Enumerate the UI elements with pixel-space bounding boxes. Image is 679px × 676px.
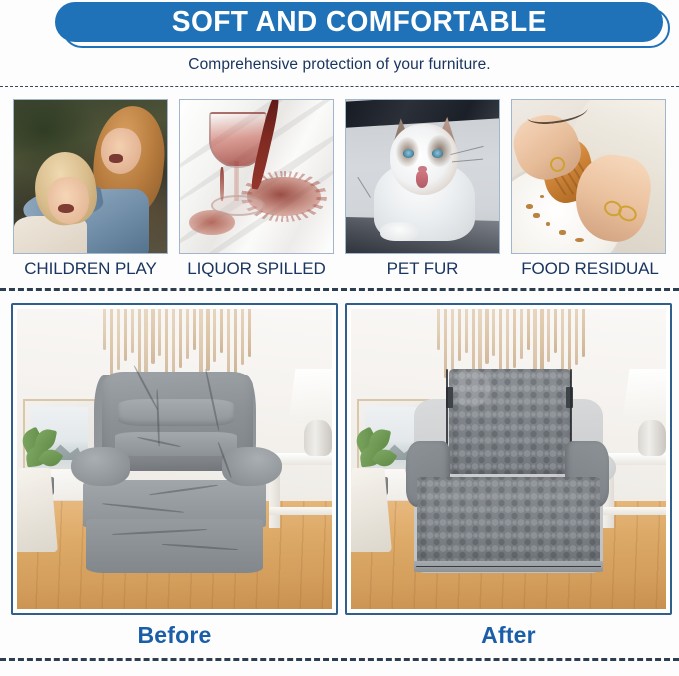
lamp-shade [288, 369, 332, 423]
feature-label-food-residual: FOOD RESIDUAL [511, 259, 669, 279]
bare-grey-recliner-photo [17, 309, 332, 609]
cat-pet-fur-photo [346, 100, 499, 253]
divider-top [0, 86, 679, 87]
header-banner: SOFT AND COMFORTABLE [0, 0, 679, 52]
macrame-strand [492, 309, 495, 356]
food-crumbs-photo [512, 100, 665, 253]
recliner-front-panel [86, 519, 262, 573]
food-crumb [540, 195, 545, 198]
macrame-strand [117, 309, 120, 370]
after-panel [345, 303, 672, 615]
macrame-strand [513, 309, 516, 368]
lamp-base [304, 420, 332, 456]
macrame-strand [213, 309, 216, 362]
feature-photo-strip [13, 99, 666, 254]
macrame-strand [458, 309, 461, 361]
feature-label-liquor-spilled: LIQUOR SPILLED [179, 259, 334, 279]
side-table-shelf [269, 507, 332, 515]
macrame-strand [451, 309, 454, 370]
cat-tongue [416, 171, 428, 188]
macrame-strand [234, 309, 237, 374]
macrame-strand [193, 309, 196, 350]
feature-photo-pet-fur [345, 99, 500, 254]
macrame-strand [172, 309, 175, 376]
macrame-strand [485, 309, 488, 364]
macrame-strand [540, 309, 543, 371]
macrame-strand [186, 309, 189, 359]
macrame-strand [527, 309, 530, 350]
food-crumb [526, 204, 534, 209]
cat-paw [380, 222, 420, 240]
macrame-strand [478, 309, 481, 373]
lamp-base [638, 420, 666, 456]
macrame-strand [444, 309, 447, 378]
slipcover-backrest-panel [449, 369, 572, 474]
divider-middle [0, 288, 679, 291]
feature-photo-food-residual [511, 99, 666, 254]
feature-label-children-play: CHILDREN PLAY [13, 259, 168, 279]
child-front-mouth [58, 204, 73, 213]
macrame-strand [554, 309, 557, 353]
banner-fill: SOFT AND COMFORTABLE [55, 2, 663, 42]
food-crumb [559, 230, 565, 235]
after-caption: After [345, 622, 672, 649]
macrame-strand [506, 309, 509, 376]
side-table-shelf [603, 507, 666, 515]
macrame-strand [151, 309, 154, 364]
covered-recliner-photo [351, 309, 666, 609]
slipcover-piping-bottom [416, 566, 602, 568]
wine-drip [220, 167, 224, 201]
feature-label-pet-fur: PET FUR [345, 259, 500, 279]
macrame-strand [568, 309, 571, 374]
cat-whisker [357, 177, 371, 198]
macrame-strand [248, 309, 251, 357]
spilled-wine-photo [180, 100, 333, 253]
recliner-arm-right [222, 447, 282, 486]
lamp-shade [622, 369, 666, 423]
recliner-headrest [118, 399, 235, 426]
cat-eye-left [403, 149, 414, 158]
macrame-strand [131, 309, 134, 353]
macrame-strand [241, 309, 244, 365]
macrame-strand [220, 309, 223, 353]
macrame-strand [103, 309, 106, 350]
before-caption: Before [11, 622, 338, 649]
macrame-strand [520, 309, 523, 359]
slipcover-seat-panel [417, 477, 600, 567]
before-panel [11, 303, 338, 615]
macrame-strand [144, 309, 147, 373]
macrame-strand [465, 309, 468, 353]
quilt-honeycomb-pattern [449, 369, 572, 474]
macrame-strand [437, 309, 440, 350]
macrame-strand [199, 309, 202, 379]
macrame-strand [547, 309, 550, 362]
macrame-strand [124, 309, 127, 361]
feature-photo-liquor-spilled [179, 99, 334, 254]
recliner-arm-left [71, 447, 131, 486]
feature-labels-row: CHILDREN PLAY LIQUOR SPILLED PET FUR FOO… [0, 259, 679, 283]
child-back-mouth [109, 154, 123, 163]
quilt-honeycomb-pattern [417, 477, 600, 567]
divider-bottom [0, 658, 679, 661]
macrame-strand [582, 309, 585, 357]
header-subtitle: Comprehensive protection of your furnitu… [0, 56, 679, 74]
macrame-strand [158, 309, 161, 356]
feature-photo-children-play [13, 99, 168, 254]
food-crumb [533, 213, 539, 218]
banner-title: SOFT AND COMFORTABLE [172, 6, 547, 39]
children-playing-photo [14, 100, 167, 253]
macrame-strand [575, 309, 578, 365]
macrame-strand [179, 309, 182, 368]
macrame-strand [206, 309, 209, 371]
macrame-strand [110, 309, 113, 378]
